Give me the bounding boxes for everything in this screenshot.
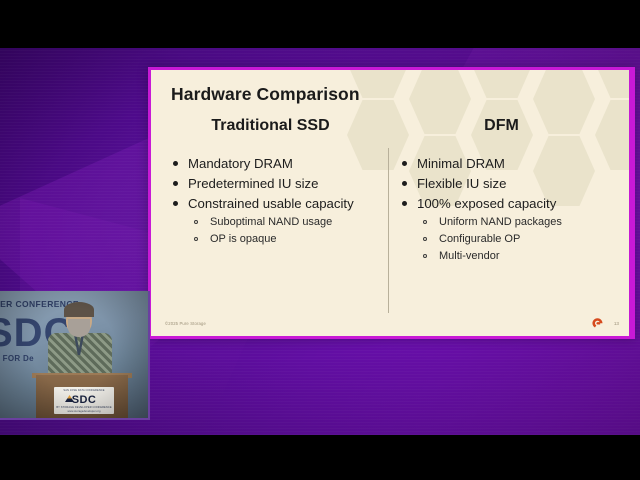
bullet-text: Predetermined IU size [188, 176, 318, 191]
list-item: Mandatory DRAM [169, 155, 384, 172]
slide-page-number: 13 [614, 321, 619, 326]
speaker-webcam-inset[interactable]: SDC PER CONFERENCE rs FOR De SAN JOSE DA… [0, 291, 150, 420]
bullet-list: Minimal DRAM Flexible IU size 100% expos… [398, 155, 623, 264]
bullet-text: 100% exposed capacity [417, 196, 556, 211]
bullet-dot-icon [173, 161, 178, 166]
bullet-dot-icon [173, 181, 178, 186]
sub-list-item: OP is opaque [188, 232, 384, 247]
slide-copyright: ©2025 Pure Storage [165, 321, 206, 326]
list-item: Constrained usable capacity Suboptimal N… [169, 195, 384, 247]
bullet-text: Mandatory DRAM [188, 156, 293, 171]
sub-bullet-text: Multi-vendor [439, 250, 500, 262]
sub-list-item: Uniform NAND packages [417, 215, 623, 230]
sub-bullet-list: Suboptimal NAND usage OP is opaque [188, 215, 384, 247]
webcam-vignette [0, 291, 148, 418]
slide-title: Hardware Comparison [171, 84, 360, 105]
sub-bullet-list: Uniform NAND packages Configurable OP Mu… [417, 215, 623, 264]
column-heading-dfm: DFM [389, 117, 614, 135]
pure-storage-logo-icon [591, 317, 604, 330]
list-item: Flexible IU size [398, 175, 623, 192]
list-item: Predetermined IU size [169, 175, 384, 192]
letterbox-bottom [0, 435, 640, 480]
bullet-circle-icon [423, 254, 427, 258]
bullet-column-dfm: Minimal DRAM Flexible IU size 100% expos… [398, 155, 623, 267]
bullet-dot-icon [402, 161, 407, 166]
bullet-dot-icon [402, 201, 407, 206]
bullet-circle-icon [194, 237, 198, 241]
letterbox-top [0, 0, 640, 48]
bullet-circle-icon [194, 220, 198, 224]
bullet-circle-icon [423, 220, 427, 224]
video-player-stage: Hardware Comparison Traditional SSD DFM … [0, 0, 640, 480]
sub-bullet-text: Suboptimal NAND usage [210, 216, 332, 228]
bullet-dot-icon [402, 181, 407, 186]
list-item: Minimal DRAM [398, 155, 623, 172]
sub-list-item: Multi-vendor [417, 249, 623, 264]
bullet-text: Constrained usable capacity [188, 196, 354, 211]
sub-bullet-text: Configurable OP [439, 233, 520, 245]
sub-bullet-text: OP is opaque [210, 233, 276, 245]
list-item: 100% exposed capacity Uniform NAND packa… [398, 195, 623, 264]
bullet-text: Flexible IU size [417, 176, 506, 191]
sub-list-item: Configurable OP [417, 232, 623, 247]
column-heading-traditional-ssd: Traditional SSD [173, 117, 368, 135]
slide-border: Hardware Comparison Traditional SSD DFM … [148, 67, 635, 339]
column-divider [388, 148, 389, 313]
bullet-list: Mandatory DRAM Predetermined IU size Con… [169, 155, 384, 247]
bullet-text: Minimal DRAM [417, 156, 505, 171]
bullet-circle-icon [423, 237, 427, 241]
presentation-slide: Hardware Comparison Traditional SSD DFM … [151, 70, 629, 336]
bullet-column-traditional-ssd: Mandatory DRAM Predetermined IU size Con… [169, 155, 384, 250]
sub-list-item: Suboptimal NAND usage [188, 215, 384, 230]
sub-bullet-text: Uniform NAND packages [439, 216, 562, 228]
bullet-dot-icon [173, 201, 178, 206]
